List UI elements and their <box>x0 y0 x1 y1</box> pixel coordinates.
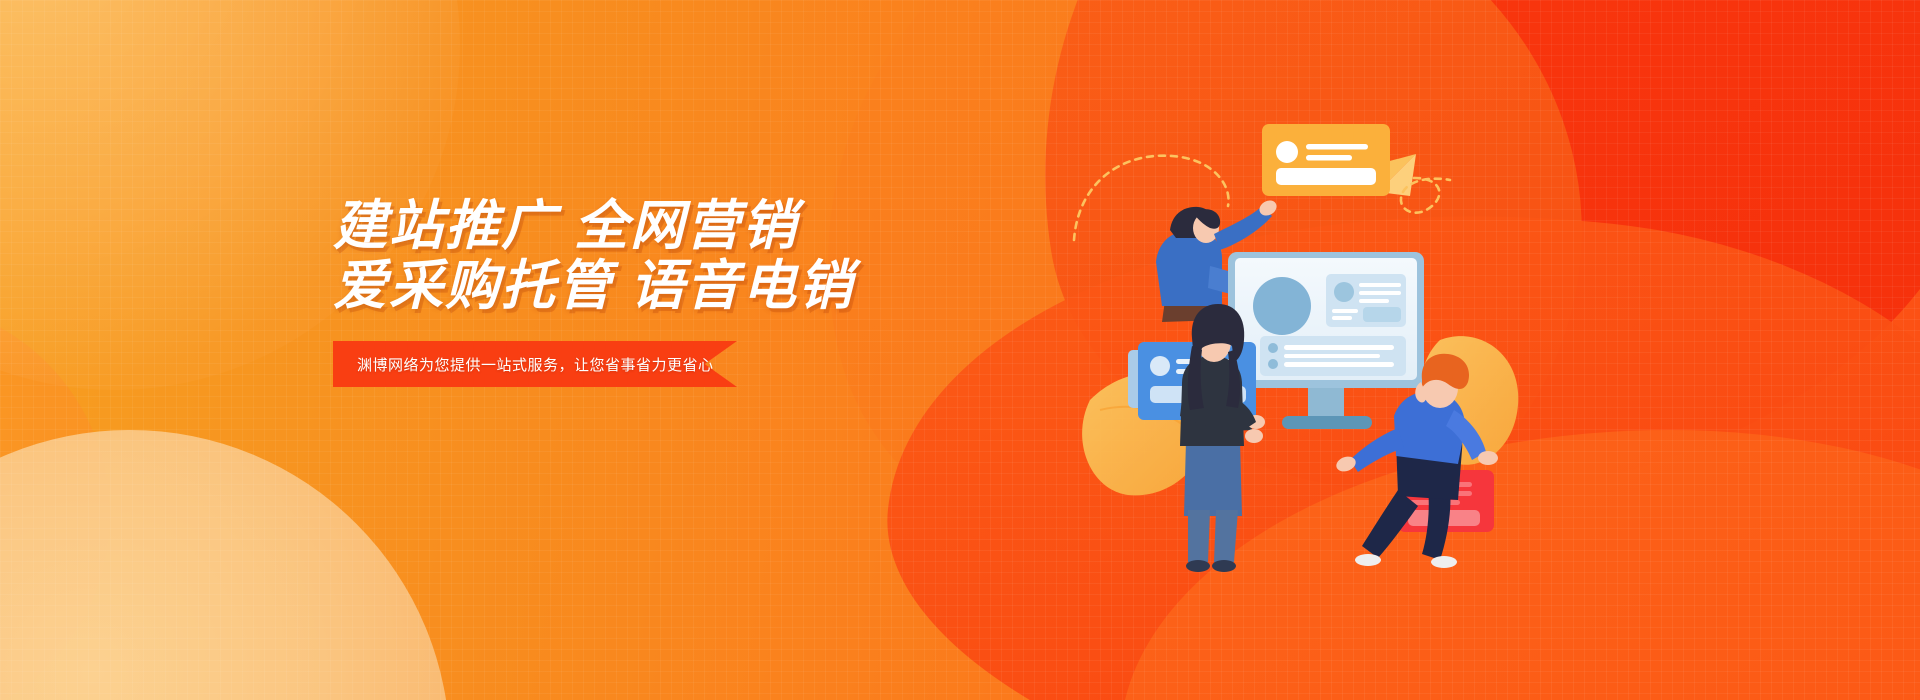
headline-line-2: 爱采购托管 语音电销 <box>333 256 1053 316</box>
hero-illustration <box>1110 110 1510 590</box>
headline-line-1: 建站推广 全网营销 <box>333 196 1053 256</box>
monitor-neck <box>1308 388 1344 418</box>
desktop-monitor <box>1228 252 1424 429</box>
banner-copy: 建站推广 全网营销 爱采购托管 语音电销 渊博网络为您提供一站式服务，让您省事省… <box>333 196 1053 387</box>
ribbon-label: 渊博网络为您提供一站式服务，让您省事省力更省心 <box>357 341 714 387</box>
profile-card-yellow <box>1262 124 1390 196</box>
promo-banner: 建站推广 全网营销 爱采购托管 语音电销 渊博网络为您提供一站式服务，让您省事省… <box>0 0 1920 700</box>
screen-list-card <box>1260 336 1406 376</box>
screen-profile-card <box>1326 274 1406 327</box>
screen-avatar-large <box>1253 277 1311 335</box>
tagline-ribbon: 渊博网络为您提供一站式服务，让您省事省力更省心 <box>333 341 737 387</box>
monitor-base <box>1282 416 1372 429</box>
